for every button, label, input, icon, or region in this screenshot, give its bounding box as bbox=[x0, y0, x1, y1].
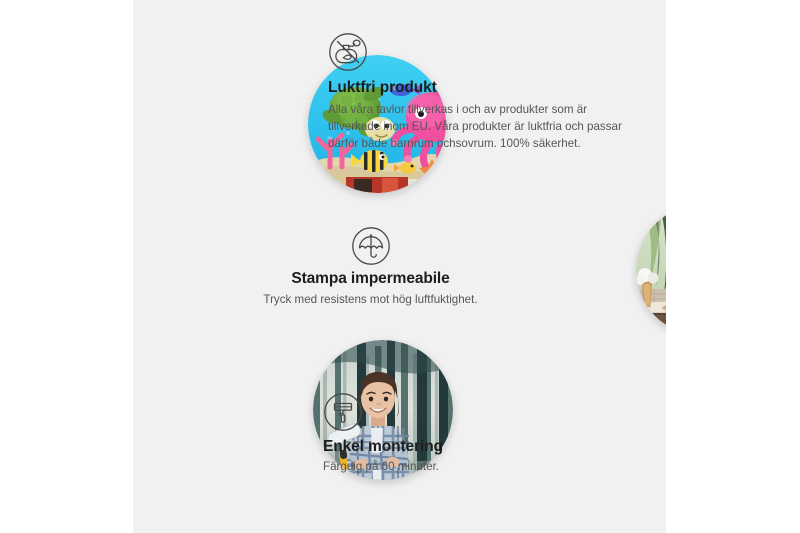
feature-body: Alla våra tavlor tillverkas i och av pro… bbox=[328, 101, 638, 152]
bathroom-art bbox=[636, 205, 666, 335]
no-odour-spray-bottle-icon bbox=[328, 32, 368, 72]
feature-stampa-impermeabile: Stampa impermeabile Tryck med resistens … bbox=[218, 226, 523, 308]
feature-body: Färgdig på 60 minuter. bbox=[323, 458, 593, 475]
paint-roller-icon bbox=[323, 392, 363, 432]
feature-panel: Luktfri produkt Alla våra tavlor tillver… bbox=[133, 0, 666, 533]
bathroom-botanical-mural-photo-inner bbox=[636, 205, 666, 335]
feature-luktfri-produkt: Luktfri produkt Alla våra tavlor tillver… bbox=[328, 32, 638, 152]
feature-enkel-montering: Enkel montering Färgdig på 60 minuter. bbox=[323, 392, 593, 475]
feature-title: Enkel montering bbox=[323, 438, 593, 456]
page-root: Luktfri produkt Alla våra tavlor tillver… bbox=[0, 0, 800, 533]
bathroom-botanical-mural-photo bbox=[636, 205, 666, 335]
feature-title: Luktfri produkt bbox=[328, 79, 638, 97]
feature-body: Tryck med resistens mot hög luftfuktighe… bbox=[218, 291, 523, 308]
umbrella-icon bbox=[351, 226, 391, 266]
feature-title: Stampa impermeabile bbox=[218, 270, 523, 288]
